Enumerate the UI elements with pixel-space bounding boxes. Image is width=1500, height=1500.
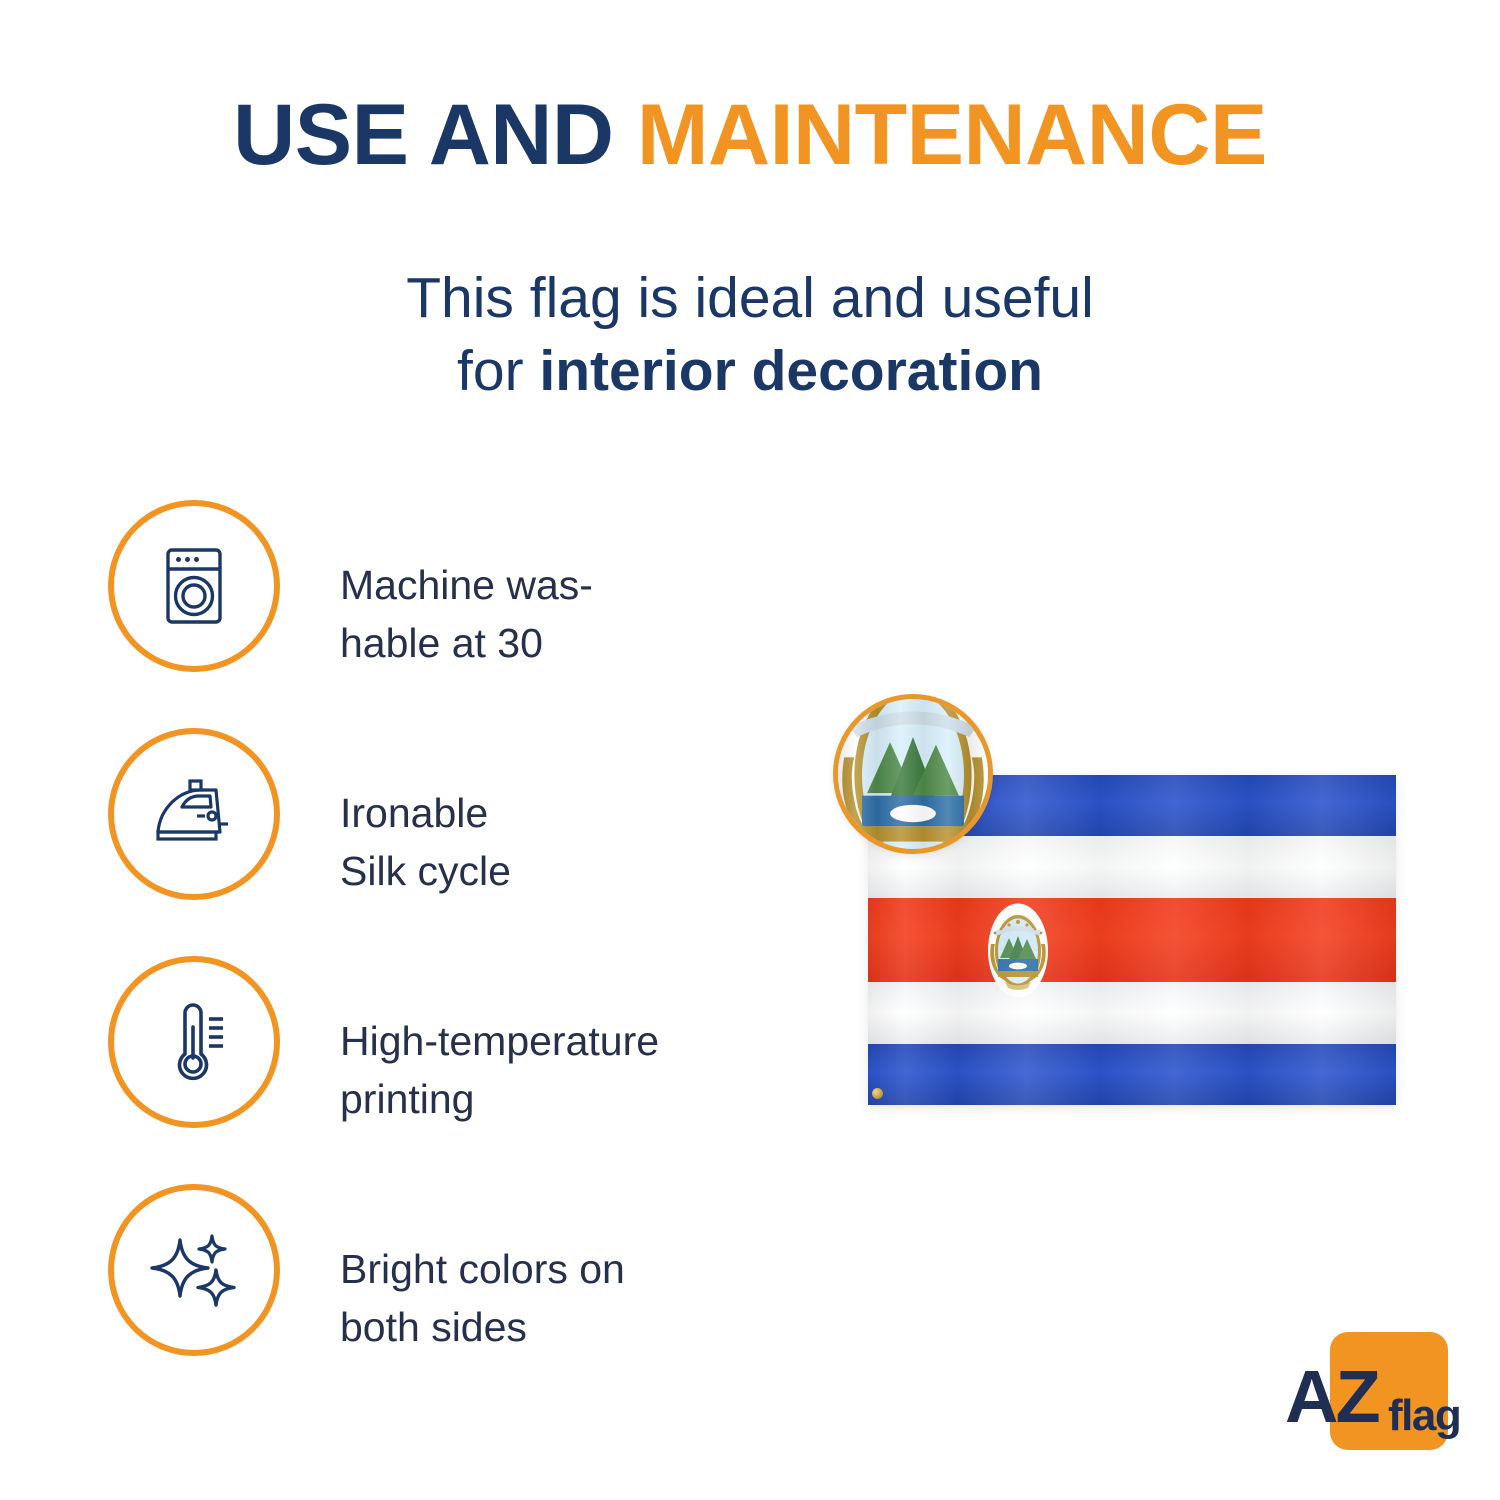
- page-title-part-primary: USE AND: [233, 87, 637, 183]
- flag-stripe-blue-bottom: [868, 1044, 1396, 1105]
- flag-stripe-red: [868, 898, 1396, 982]
- page-subtitle-line-2-prefix: for: [457, 339, 539, 403]
- page-subtitle-line-2: for interior decoration: [0, 335, 1500, 408]
- fabric-detail-callout: [833, 694, 993, 854]
- thermometer-icon: [146, 994, 242, 1090]
- feature-icon-badge: [108, 956, 280, 1128]
- infographic-page: USE AND MAINTENANCE This flag is ideal a…: [0, 0, 1500, 1500]
- feature-icon-badge: [108, 1184, 280, 1356]
- iron-icon: [144, 764, 244, 864]
- feature-label: Machine was- hable at 30: [340, 556, 593, 672]
- sparkles-icon: [144, 1220, 244, 1320]
- feature-item-high-temperature: High-temperature printing: [108, 956, 808, 1184]
- flag-grommet: [872, 1088, 883, 1099]
- feature-item-ironable: Ironable Silk cycle: [108, 728, 808, 956]
- page-title-part-accent: MAINTENANCE: [637, 87, 1267, 183]
- coat-of-arms-emblem: [987, 902, 1049, 999]
- page-subtitle: This flag is ideal and useful for interi…: [0, 262, 1500, 408]
- page-title: USE AND MAINTENANCE: [0, 90, 1500, 180]
- brand-logo-mark: AZ: [1285, 1360, 1378, 1434]
- callout-fabric-ripple: [838, 699, 988, 849]
- feature-label: High-temperature printing: [340, 1012, 659, 1128]
- page-subtitle-emphasis: interior decoration: [539, 339, 1043, 403]
- brand-logo: AZ flag: [1330, 1332, 1448, 1450]
- feature-item-bright-colors: Bright colors on both sides: [108, 1184, 808, 1412]
- feature-icon-badge: [108, 728, 280, 900]
- brand-logo-word: flag: [1388, 1394, 1460, 1438]
- feature-icon-badge: [108, 500, 280, 672]
- feature-list: Machine was- hable at 30 Ironable Silk c…: [108, 500, 808, 1412]
- feature-label: Ironable Silk cycle: [340, 784, 511, 900]
- feature-item-machine-washable: Machine was- hable at 30: [108, 500, 808, 728]
- flag-stripe-white-bottom: [868, 982, 1396, 1043]
- page-subtitle-line-1: This flag is ideal and useful: [0, 262, 1500, 335]
- feature-label: Bright colors on both sides: [340, 1240, 625, 1356]
- washing-machine-icon: [146, 538, 242, 634]
